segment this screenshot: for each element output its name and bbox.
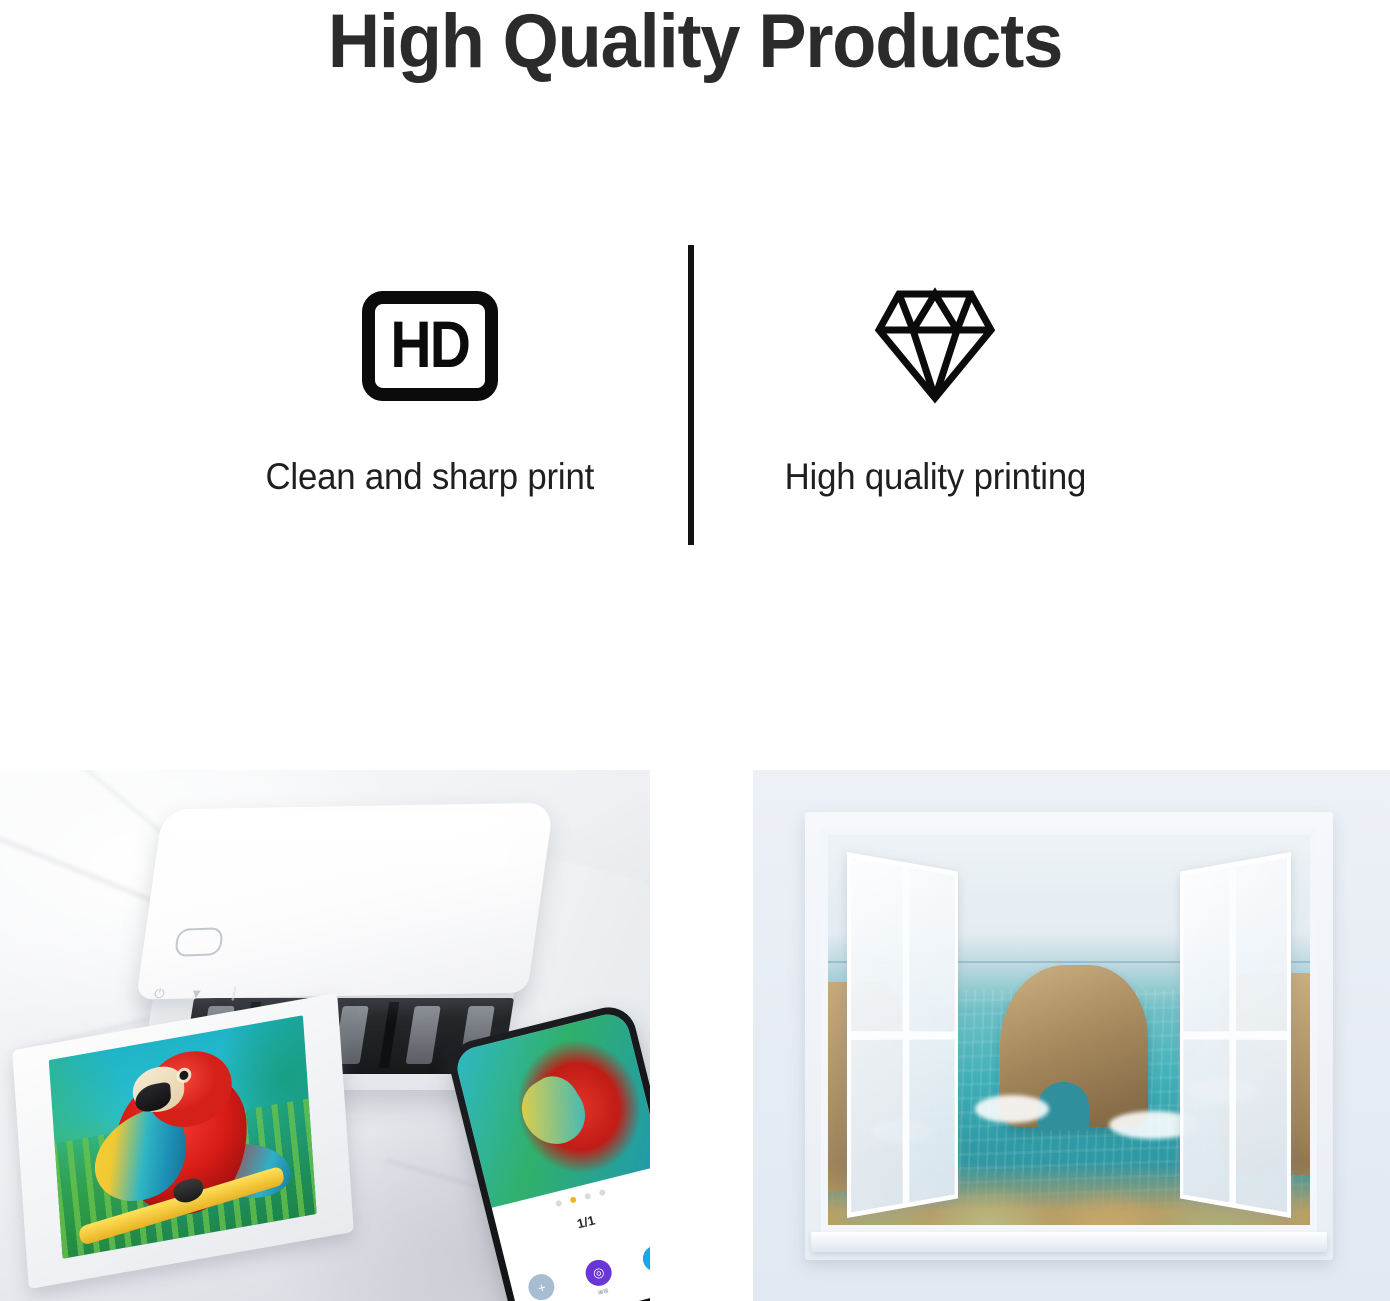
photo-open-window-seascape [753, 770, 1390, 1301]
window-sill [811, 1232, 1327, 1252]
wifi-led-icon: ▼ [188, 986, 205, 1001]
power-led-icon: ⏻ [151, 986, 168, 1001]
app-photo-preview [453, 1010, 650, 1208]
edit-photo-icon: ◎ [583, 1257, 615, 1289]
page-dot-active[interactable] [569, 1196, 576, 1203]
feature-label-clean-and-sharp-print: Clean and sharp print [266, 456, 595, 498]
app-action-bar: + 添加 ◎ 编辑 ◐ 打印 [510, 1239, 650, 1301]
feature-label-high-quality-printing: High quality printing [784, 456, 1086, 498]
paper-led-icon: ❕ [225, 986, 242, 1001]
printer-status-leds: ⏻ ▼ ❕ [151, 986, 242, 1001]
add-photo-button[interactable]: + 添加 [526, 1271, 560, 1301]
feature-clean-and-sharp-print: HD Clean and sharp print [195, 236, 665, 556]
print-photo-button[interactable]: ◐ 打印 [640, 1243, 650, 1284]
edit-photo-button[interactable]: ◎ 编辑 [583, 1257, 617, 1298]
photo-printer-with-parrot-print: ⏻ ▼ ❕ [0, 770, 650, 1301]
surf-foam [975, 1095, 1049, 1123]
printed-parrot-photo [49, 1015, 317, 1258]
diamond-icon [873, 236, 997, 456]
hd-badge-icon: HD [362, 236, 498, 456]
printer-emblem [174, 927, 224, 957]
page-dot[interactable] [598, 1189, 605, 1196]
window-sash-right[interactable] [1180, 852, 1291, 1218]
paper-roller [406, 1006, 441, 1064]
add-photo-icon: + [526, 1271, 558, 1301]
feature-row: HD Clean and sharp print [0, 236, 1390, 556]
print-photo-icon: ◐ [640, 1243, 650, 1275]
hd-badge-label: HD [391, 313, 470, 379]
page-title: High Quality Products [35, 0, 1356, 84]
window-frame [805, 812, 1333, 1260]
paper-slot-gap [379, 1002, 399, 1068]
page-dot[interactable] [554, 1200, 561, 1207]
edit-photo-label: 编辑 [597, 1287, 609, 1296]
feature-high-quality-printing: High quality printing [700, 236, 1170, 556]
feature-divider [688, 245, 694, 545]
window-sash-left[interactable] [847, 852, 958, 1218]
printer-highlight [164, 814, 515, 884]
app-photo-accent [510, 1067, 596, 1156]
page-dot[interactable] [584, 1192, 591, 1199]
window-mullion-horizontal [1183, 1031, 1287, 1040]
window-mullion-horizontal [851, 1031, 955, 1040]
window-opening [821, 828, 1317, 1232]
